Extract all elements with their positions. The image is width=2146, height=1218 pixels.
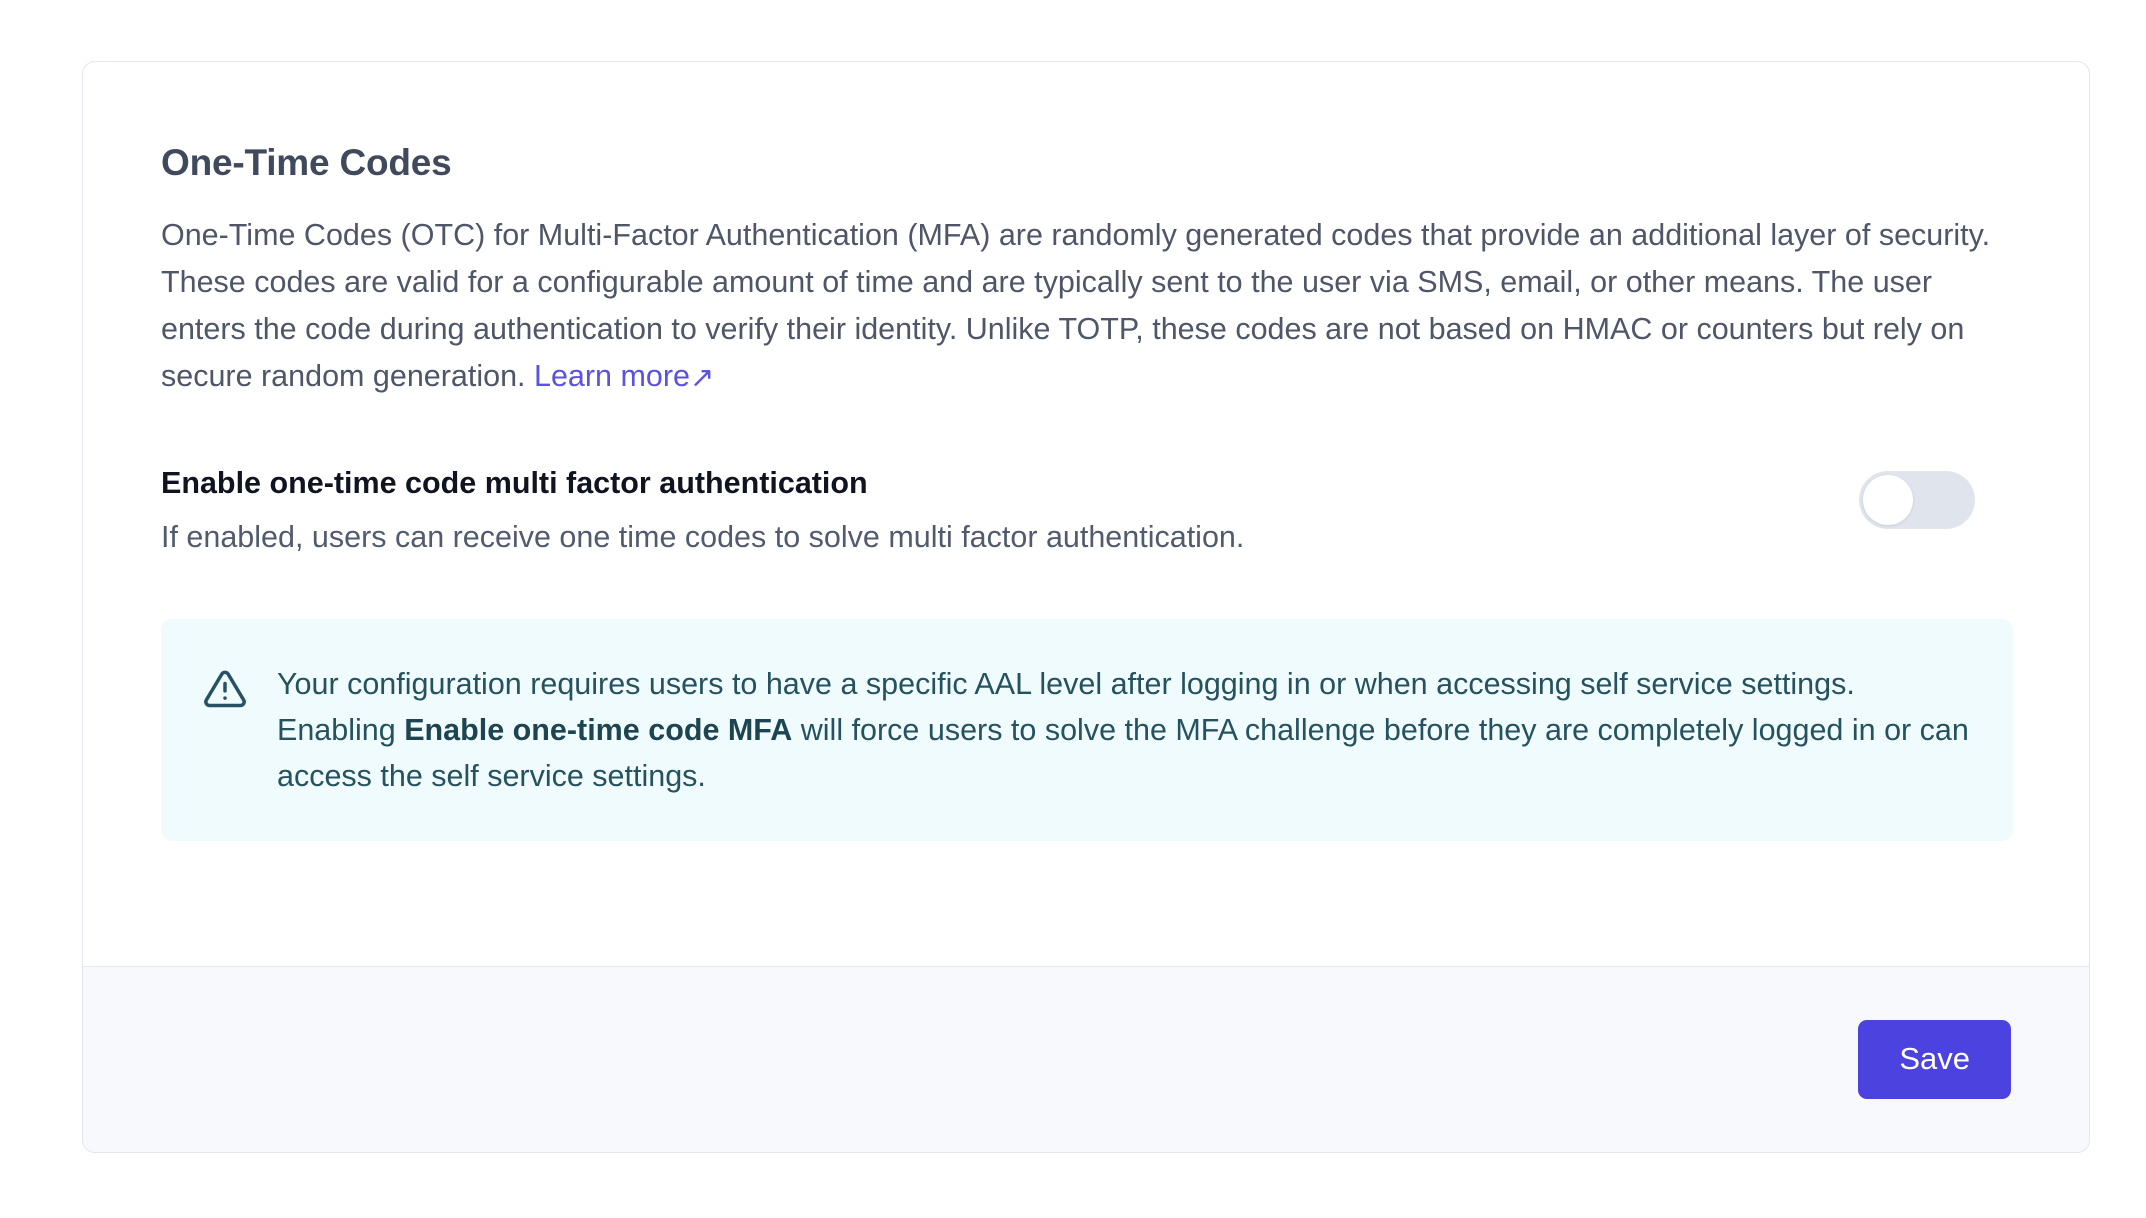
setting-text-block: Enable one-time code multi factor authen… [161,463,1244,557]
alert-message-bold: Enable one-time code MFA [404,713,792,747]
warning-triangle-icon [203,667,247,711]
toggle-knob [1863,475,1913,525]
page-title: One-Time Codes [161,140,2011,186]
card-description-text: One-Time Codes (OTC) for Multi-Factor Au… [161,218,1990,393]
one-time-codes-card: One-Time Codes One-Time Codes (OTC) for … [82,61,2090,1153]
setting-help-text: If enabled, users can receive one time c… [161,517,1244,557]
arrow-up-right-icon: ↗ [690,364,714,393]
card-body: One-Time Codes One-Time Codes (OTC) for … [83,62,2089,966]
alert-message: Your configuration requires users to hav… [277,661,1969,799]
page-root: One-Time Codes One-Time Codes (OTC) for … [0,0,2146,1218]
card-description: One-Time Codes (OTC) for Multi-Factor Au… [161,212,2001,400]
card-footer: Save [83,966,2089,1152]
save-button[interactable]: Save [1858,1020,2011,1099]
learn-more-label: Learn more [534,359,690,393]
enable-one-time-code-mfa-toggle[interactable] [1859,471,1975,529]
setting-row: Enable one-time code multi factor authen… [161,463,2011,557]
setting-label: Enable one-time code multi factor authen… [161,463,1244,503]
aal-warning-alert: Your configuration requires users to hav… [161,619,2013,841]
learn-more-link[interactable]: Learn more↗ [534,359,714,393]
